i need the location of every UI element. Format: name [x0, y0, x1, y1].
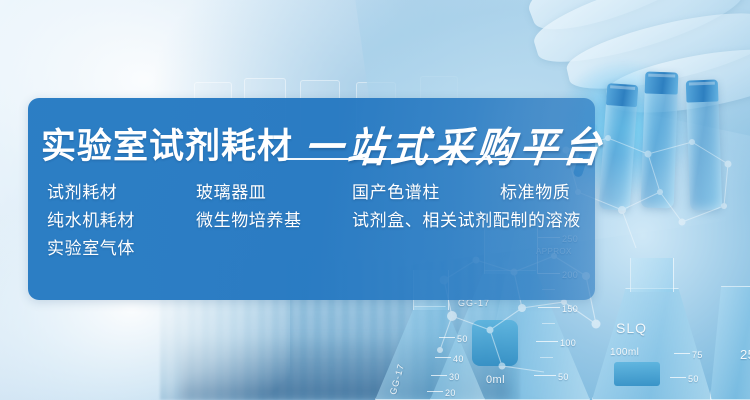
category-item-glassware[interactable]: 玻璃器皿: [196, 178, 266, 203]
headline-panel: 实验室试剂耗材一站式采购平台 试剂耗材 玻璃器皿 国产色谱柱 标准物质 纯水机耗…: [28, 98, 595, 300]
category-item-reagent-kits-solutions[interactable]: 试剂盒、相关试剂配制的溶液: [352, 206, 581, 231]
title-underline: [281, 158, 583, 160]
title-tagline-calligraphy: 一站式采购平台: [302, 114, 609, 173]
category-item-microbial-culture-media[interactable]: 微生物培养基: [196, 206, 302, 231]
category-row: 试剂耗材 玻璃器皿 国产色谱柱 标准物质: [47, 178, 589, 206]
page-title: 实验室试剂耗材: [41, 118, 293, 169]
title-row: 实验室试剂耗材一站式采购平台: [41, 116, 587, 164]
vial-cap: [606, 83, 638, 107]
laboratory-reagent-banner: 250 APPROX 200 150 100 50 GG-17 0ml 50 4…: [0, 0, 750, 400]
cylinder-label-250: 250: [740, 347, 750, 362]
beaker-label-75: 75: [692, 350, 703, 360]
graduated-cylinder-icon: 250: [710, 280, 750, 400]
small-flask-label-20: 20: [445, 388, 456, 398]
category-row: 纯水机耗材 微生物培养基 试剂盒、相关试剂配制的溶液: [47, 206, 589, 234]
category-item-reagent-consumables[interactable]: 试剂耗材: [47, 178, 117, 203]
category-item-domestic-chromatography-column[interactable]: 国产色谱柱: [352, 178, 440, 203]
category-item-laboratory-gas[interactable]: 实验室气体: [47, 234, 135, 259]
category-list: 试剂耗材 玻璃器皿 国产色谱柱 标准物质 纯水机耗材 微生物培养基 试剂盒、相关…: [47, 178, 589, 262]
category-item-water-purifier-consumables[interactable]: 纯水机耗材: [47, 206, 135, 231]
vial-cap: [686, 79, 719, 102]
category-row: 实验室气体: [47, 234, 589, 262]
category-item-reference-material[interactable]: 标准物质: [500, 178, 570, 203]
vial-cap: [645, 71, 679, 94]
beaker-label-50: 50: [688, 374, 699, 384]
